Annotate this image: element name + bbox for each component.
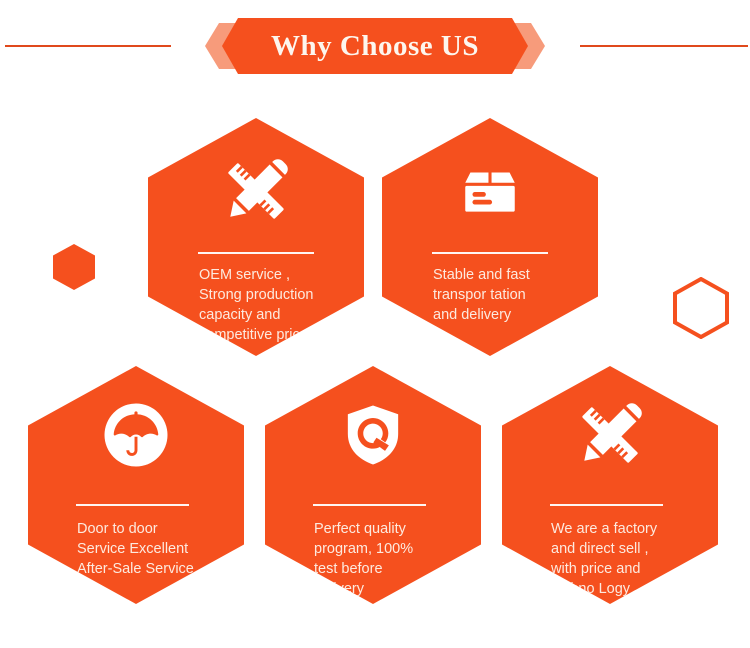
card-text: Door to door Service Excellent After-Sal…: [77, 519, 194, 579]
card-text: OEM service , Strong production capacity…: [199, 265, 313, 345]
page-title: Why Choose US: [271, 30, 479, 63]
card-text: Stable and fast transpor tation and deli…: [433, 265, 530, 325]
card-divider: [432, 252, 548, 254]
divider-line-right-icon: [580, 45, 748, 47]
pencil-ruler-icon: [502, 366, 718, 478]
card-divider: [313, 504, 426, 506]
feature-card-factory-direct[interactable]: We are a factory and direct sell , with …: [502, 366, 718, 604]
banner-body: Why Choose US: [222, 18, 528, 74]
card-divider: [550, 504, 663, 506]
card-divider: [76, 504, 189, 506]
package-box-icon: [382, 118, 598, 230]
card-text: We are a factory and direct sell , with …: [551, 519, 657, 599]
title-banner: Why Choose US: [205, 18, 545, 74]
feature-card-quality-program[interactable]: Perfect quality program, 100% test befor…: [265, 366, 481, 604]
small-solid-hexagon-icon: [53, 244, 95, 290]
card-divider: [198, 252, 314, 254]
card-text: Perfect quality program, 100% test befor…: [314, 519, 413, 599]
large-outline-hexagon-icon: [673, 277, 729, 339]
shield-quality-icon: [265, 366, 481, 478]
umbrella-circle-icon: [28, 366, 244, 478]
feature-card-door-to-door-service[interactable]: Door to door Service Excellent After-Sal…: [28, 366, 244, 604]
divider-line-left-icon: [5, 45, 171, 47]
feature-card-transportation[interactable]: Stable and fast transpor tation and deli…: [382, 118, 598, 356]
pencil-ruler-icon: [148, 118, 364, 230]
why-choose-us-infographic: Why Choose US: [0, 0, 750, 648]
header: Why Choose US: [0, 0, 750, 92]
feature-card-oem-service[interactable]: OEM service , Strong production capacity…: [148, 118, 364, 356]
